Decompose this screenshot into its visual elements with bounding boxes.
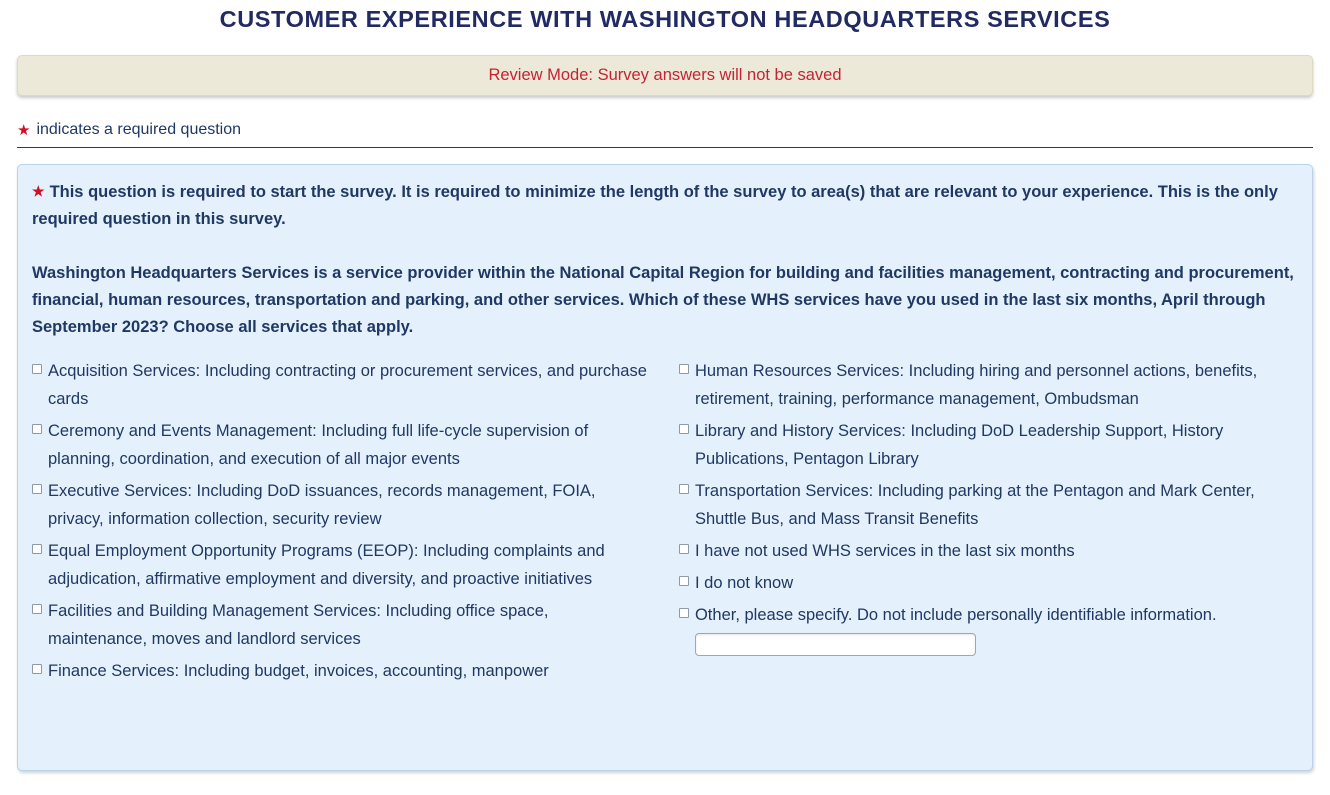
option-other-please-specify[interactable]: Other, please specify. Do not include pe… [679, 601, 1296, 629]
question-instruction: ★This question is required to start the … [32, 179, 1296, 233]
question-instruction-text: This question is required to start the s… [32, 183, 1278, 228]
option-transportation-services[interactable]: Transportation Services: Including parki… [679, 477, 1296, 533]
option-label[interactable]: Finance Services: Including budget, invo… [48, 657, 549, 685]
page-title: CUSTOMER EXPERIENCE WITH WASHINGTON HEAD… [0, 0, 1330, 34]
checkbox-icon[interactable] [679, 484, 689, 494]
question-panel: ★This question is required to start the … [17, 164, 1313, 771]
option-label[interactable]: Executive Services: Including DoD issuan… [48, 477, 648, 533]
options-column-right: Human Resources Services: Including hiri… [664, 357, 1296, 689]
checkbox-icon[interactable] [32, 604, 42, 614]
option-label[interactable]: Human Resources Services: Including hiri… [695, 357, 1295, 413]
option-label[interactable]: Equal Employment Opportunity Programs (E… [48, 537, 648, 593]
review-banner-wrapper: Review Mode: Survey answers will not be … [17, 55, 1313, 96]
option-not-used-whs-services[interactable]: I have not used WHS services in the last… [679, 537, 1296, 565]
option-do-not-know[interactable]: I do not know [679, 569, 1296, 597]
option-acquisition-services[interactable]: Acquisition Services: Including contract… [32, 357, 656, 413]
required-legend-label: indicates a required question [36, 120, 241, 140]
checkbox-icon[interactable] [32, 424, 42, 434]
checkbox-icon[interactable] [32, 484, 42, 494]
option-label[interactable]: I do not know [695, 569, 793, 597]
option-label[interactable]: Facilities and Building Management Servi… [48, 597, 648, 653]
option-label[interactable]: I have not used WHS services in the last… [695, 537, 1075, 565]
review-mode-banner: Review Mode: Survey answers will not be … [17, 55, 1313, 96]
option-label[interactable]: Ceremony and Events Management: Includin… [48, 417, 648, 473]
star-icon: ★ [17, 123, 30, 138]
required-question-legend: ★ indicates a required question [17, 120, 1313, 148]
checkbox-icon[interactable] [679, 608, 689, 618]
checkbox-icon[interactable] [679, 544, 689, 554]
option-finance-services[interactable]: Finance Services: Including budget, invo… [32, 657, 656, 685]
options-column-left: Acquisition Services: Including contract… [32, 357, 664, 689]
option-eeop[interactable]: Equal Employment Opportunity Programs (E… [32, 537, 656, 593]
star-icon: ★ [32, 184, 45, 198]
option-label[interactable]: Other, please specify. Do not include pe… [695, 601, 1217, 629]
checkbox-icon[interactable] [679, 576, 689, 586]
option-library-history-services[interactable]: Library and History Services: Including … [679, 417, 1296, 473]
option-ceremony-events-management[interactable]: Ceremony and Events Management: Includin… [32, 417, 656, 473]
other-specify-input[interactable] [695, 633, 976, 656]
question-prompt: Washington Headquarters Services is a se… [32, 260, 1296, 341]
option-facilities-building-management[interactable]: Facilities and Building Management Servi… [32, 597, 656, 653]
checkbox-icon[interactable] [679, 364, 689, 374]
checkbox-icon[interactable] [32, 664, 42, 674]
checkbox-icon[interactable] [679, 424, 689, 434]
option-label[interactable]: Transportation Services: Including parki… [695, 477, 1295, 533]
options-columns: Acquisition Services: Including contract… [32, 357, 1296, 689]
other-specify-input-wrapper [679, 633, 1296, 656]
option-human-resources-services[interactable]: Human Resources Services: Including hiri… [679, 357, 1296, 413]
option-label[interactable]: Library and History Services: Including … [695, 417, 1295, 473]
checkbox-icon[interactable] [32, 544, 42, 554]
option-label[interactable]: Acquisition Services: Including contract… [48, 357, 648, 413]
option-executive-services[interactable]: Executive Services: Including DoD issuan… [32, 477, 656, 533]
checkbox-icon[interactable] [32, 364, 42, 374]
